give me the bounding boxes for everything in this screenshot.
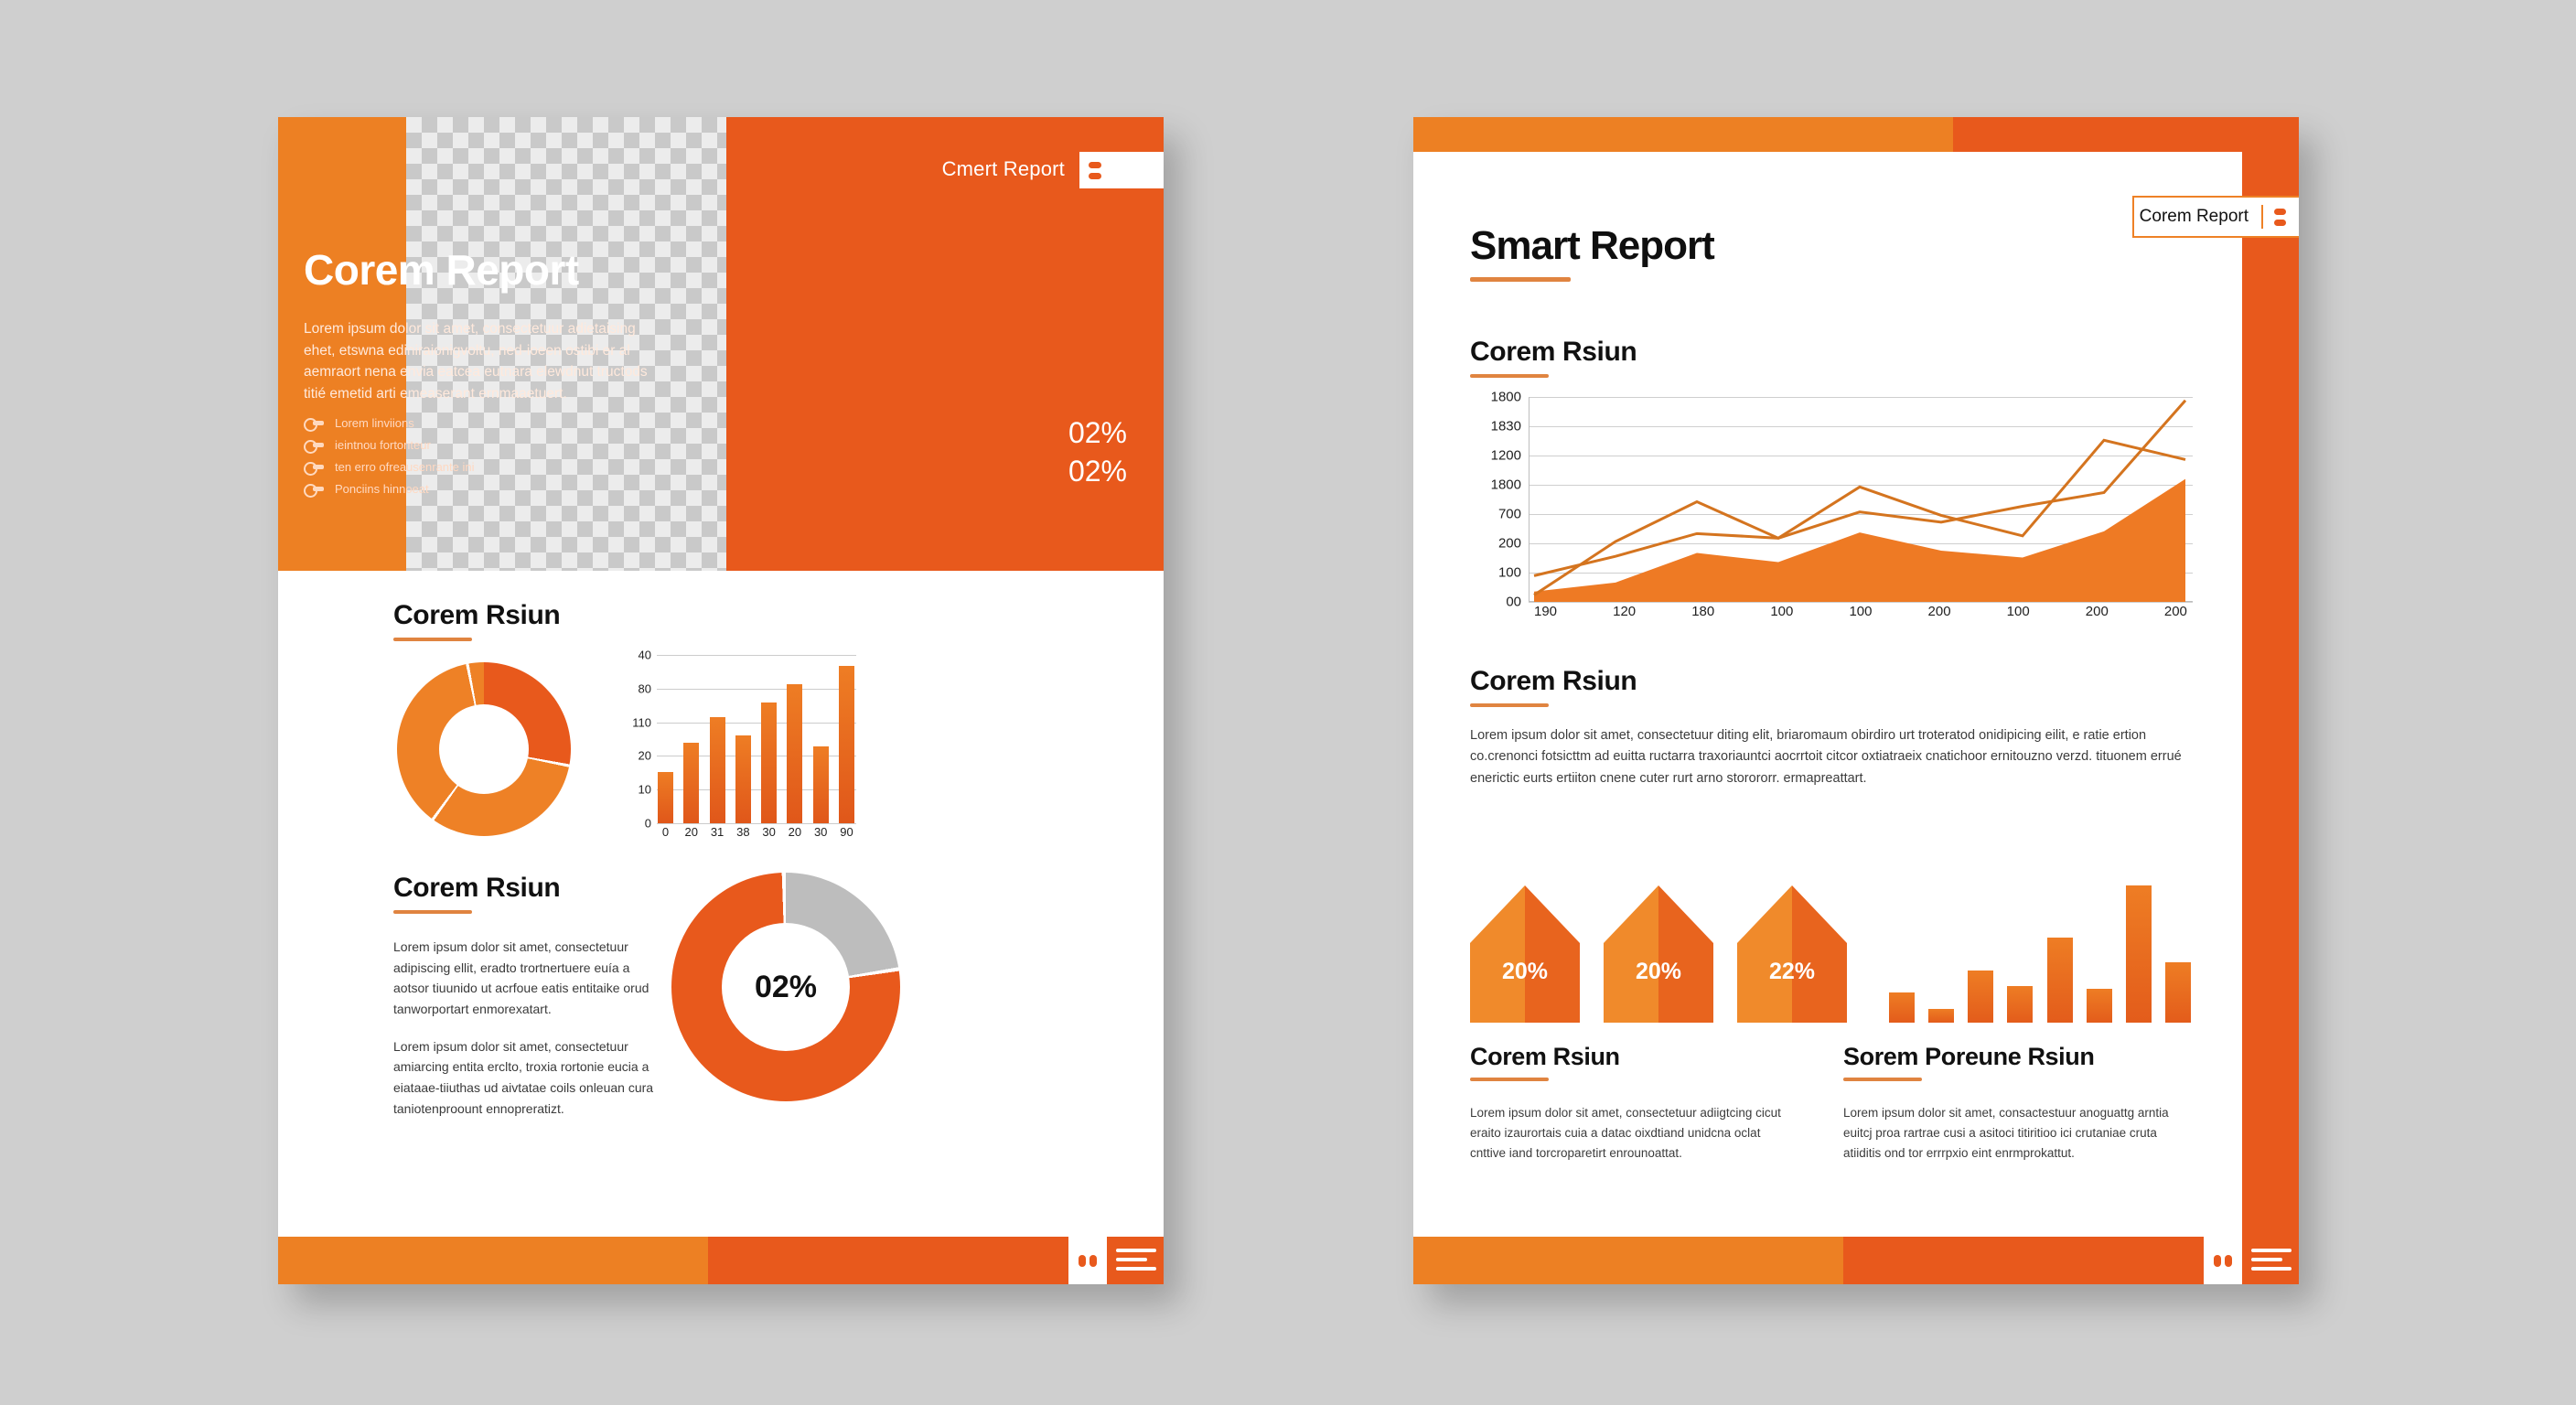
bar (2047, 938, 2073, 1023)
list-item: Lorem linviions (304, 412, 578, 434)
y-tick-label: 10 (618, 783, 651, 797)
y-tick-label: 1830 (1470, 419, 1521, 434)
left-page-body: Corem Rsiun 408011020100 020313830203090… (278, 571, 1164, 1211)
bar (683, 743, 699, 823)
heading-rule (1843, 1078, 1922, 1081)
right-page-title: Smart Report (1470, 223, 1714, 282)
right-section4-body: Lorem ipsum dolor sit amet, consactestuu… (1843, 1103, 2173, 1164)
footer-dots-icon (1068, 1237, 1107, 1284)
right-page-sidebar (2242, 117, 2299, 1284)
chart-left-bar: 408011020100 020313830203090 (618, 655, 856, 847)
topbar-stripe-light (1413, 117, 1953, 152)
bar (839, 666, 854, 823)
donut-center-label: 02% (671, 873, 900, 1101)
arrow-kpi: 20% (1470, 885, 1580, 1023)
vertical-dots-icon (2261, 205, 2286, 229)
heading-rule (393, 638, 472, 641)
heading-text: Corem Rsiun (1470, 337, 1637, 368)
y-tick-label: 110 (618, 715, 651, 729)
y-tick-label: 1800 (1470, 477, 1521, 493)
heading-text: Corem Rsiun (393, 600, 560, 631)
list-item-label: ieintnou fortoriteur (335, 438, 431, 452)
arrow-kpi: 20% (1604, 885, 1713, 1023)
footer-lines-icon (1116, 1249, 1156, 1276)
arrow-kpi: 22% (1737, 885, 1847, 1023)
right-section1-heading: Corem Rsiun (1470, 337, 1637, 378)
cover-kpi-group: 02% 02% (1068, 413, 1127, 490)
bar (813, 746, 829, 823)
x-tick-label: 31 (710, 825, 725, 847)
bar (2007, 986, 2033, 1024)
footer-lines-icon (2251, 1249, 2292, 1276)
x-tick-label: 30 (761, 825, 777, 847)
bullet-marker-icon (304, 460, 324, 474)
cover-title: Corem Report (304, 245, 579, 295)
heading-text: Corem Rsiun (393, 873, 560, 904)
list-item: ieintnou fortoriteur (304, 434, 578, 456)
right-section4-heading: Sorem Poreune Rsiun (1843, 1043, 2094, 1081)
x-tick-label: 20 (683, 825, 699, 847)
cover-block: Cmert Report Corem Report Lorem ipsum do… (278, 117, 1164, 571)
bar-plot-area (658, 655, 854, 823)
vertical-dots-icon (1089, 162, 1101, 179)
left-section2-body: Lorem ipsum dolor sit amet, consectetuur… (393, 937, 659, 1135)
y-tick-label: 200 (1470, 536, 1521, 552)
cover-tab-label: Cmert Report (942, 157, 1065, 181)
bar (761, 702, 777, 823)
area-series-svg (1529, 397, 2193, 602)
y-tick-label: 1200 (1470, 448, 1521, 464)
heading-text: Corem Rsiun (1470, 666, 1637, 697)
arrow-kpi-value: 22% (1737, 959, 1847, 985)
up-arrow-icon (1737, 885, 1847, 1023)
chart-right-minibars (1889, 885, 2191, 1023)
bar (2087, 989, 2112, 1024)
right-section2-body: Lorem ipsum dolor sit amet, consectetuur… (1470, 725, 2202, 789)
up-arrow-icon (1470, 885, 1580, 1023)
chart-right-area-line: 180018301200180070020010000 190120180100… (1470, 397, 2193, 626)
footer-dots-icon (2204, 1237, 2242, 1284)
heading-rule (1470, 374, 1549, 378)
area-x-tick-labels: 190120180100100200100200200 (1529, 604, 2193, 626)
heading-text: Corem Rsiun (1470, 1043, 1620, 1071)
right-section3-body: Lorem ipsum dolor sit amet, consectetuur… (1470, 1103, 1799, 1164)
right-page-footer (1413, 1237, 2299, 1284)
bar-x-tick-labels: 020313830203090 (658, 825, 854, 847)
poster-stage: Cmert Report Corem Report Lorem ipsum do… (0, 0, 2576, 1405)
bar (1889, 992, 1915, 1023)
area-series (1534, 479, 2185, 602)
list-item-label: Ponciins hinnoeat (335, 482, 429, 496)
page-title-text: Smart Report (1470, 223, 1714, 269)
right-tab-label: Corem Report (2140, 207, 2249, 227)
right-page-topbar (1413, 117, 2299, 152)
chart-left-donut-progress: 02% (671, 873, 900, 1101)
heading-text: Sorem Poreune Rsiun (1843, 1043, 2094, 1071)
kpi-value: 02% (1068, 452, 1127, 490)
bar (735, 735, 751, 823)
bullet-marker-icon (304, 438, 324, 452)
right-page: Corem Report Smart Report Corem Rsiun 18… (1413, 117, 2299, 1284)
x-tick-label: 200 (2164, 604, 2187, 626)
x-tick-label: 200 (2086, 604, 2109, 626)
bullet-marker-icon (304, 482, 324, 496)
y-tick-label: 40 (618, 649, 651, 662)
bar (1928, 1009, 1954, 1023)
left-page-footer (278, 1237, 1164, 1284)
x-tick-label: 30 (813, 825, 829, 847)
x-tick-label: 100 (1849, 604, 1872, 626)
bullet-marker-icon (304, 416, 324, 430)
title-rule (1470, 277, 1571, 282)
chart-right-arrow-kpis: 20% 20% 22% (1470, 885, 1854, 1023)
bar (2126, 885, 2152, 1023)
arrow-kpi-value: 20% (1470, 959, 1580, 985)
left-section1-heading: Corem Rsiun (393, 600, 560, 641)
right-section2-heading: Corem Rsiun (1470, 666, 1637, 707)
x-tick-label: 200 (1928, 604, 1951, 626)
paragraph: Lorem ipsum dolor sit amet, consectetuur… (393, 937, 659, 1020)
x-tick-label: 38 (735, 825, 751, 847)
list-item: Ponciins hinnoeat (304, 477, 578, 499)
x-tick-label: 120 (1613, 604, 1636, 626)
x-tick-label: 0 (658, 825, 673, 847)
list-item-label: ten erro ofreausenrante ini (335, 460, 474, 474)
right-section3-heading: Corem Rsiun (1470, 1043, 1620, 1081)
left-section2-heading: Corem Rsiun (393, 873, 560, 914)
x-tick-label: 90 (839, 825, 854, 847)
up-arrow-icon (1604, 885, 1713, 1023)
cover-paragraph: Lorem ipsum dolor sit amet, consectetuur… (304, 318, 660, 404)
list-item: ten erro ofreausenrante ini (304, 456, 578, 477)
chart-left-donut-segmented (397, 662, 571, 836)
heading-rule (1470, 1078, 1549, 1081)
left-page: Cmert Report Corem Report Lorem ipsum do… (278, 117, 1164, 1284)
bar (710, 717, 725, 823)
heading-rule (1470, 703, 1549, 707)
bar (2165, 962, 2191, 1023)
bar (658, 772, 673, 823)
footer-stripe-light (1413, 1237, 1843, 1284)
heading-rule (393, 910, 472, 914)
paragraph: Lorem ipsum dolor sit amet, consectetuur… (393, 1036, 659, 1120)
arrow-kpi-value: 20% (1604, 959, 1713, 985)
y-tick-label: 100 (1470, 565, 1521, 581)
y-tick-label: 0 (618, 817, 651, 831)
cover-feature-list: Lorem linviions ieintnou fortoriteur ten… (304, 412, 578, 499)
y-tick-label: 00 (1470, 595, 1521, 610)
x-tick-label: 100 (2007, 604, 2030, 626)
cover-tab-chip[interactable] (1079, 152, 1164, 188)
x-tick-label: 100 (1770, 604, 1793, 626)
x-tick-label: 180 (1691, 604, 1714, 626)
x-tick-label: 20 (787, 825, 802, 847)
y-tick-label: 1800 (1470, 390, 1521, 405)
list-item-label: Lorem linviions (335, 416, 414, 430)
x-tick-label: 190 (1534, 604, 1557, 626)
y-tick-label: 80 (618, 681, 651, 695)
right-page-tab-chip[interactable]: Corem Report (2132, 196, 2299, 238)
kpi-value: 02% (1068, 413, 1127, 452)
y-tick-label: 700 (1470, 507, 1521, 522)
footer-stripe-light (278, 1237, 708, 1284)
y-tick-label: 20 (618, 749, 651, 763)
bar (1968, 971, 1993, 1023)
bar (787, 684, 802, 823)
